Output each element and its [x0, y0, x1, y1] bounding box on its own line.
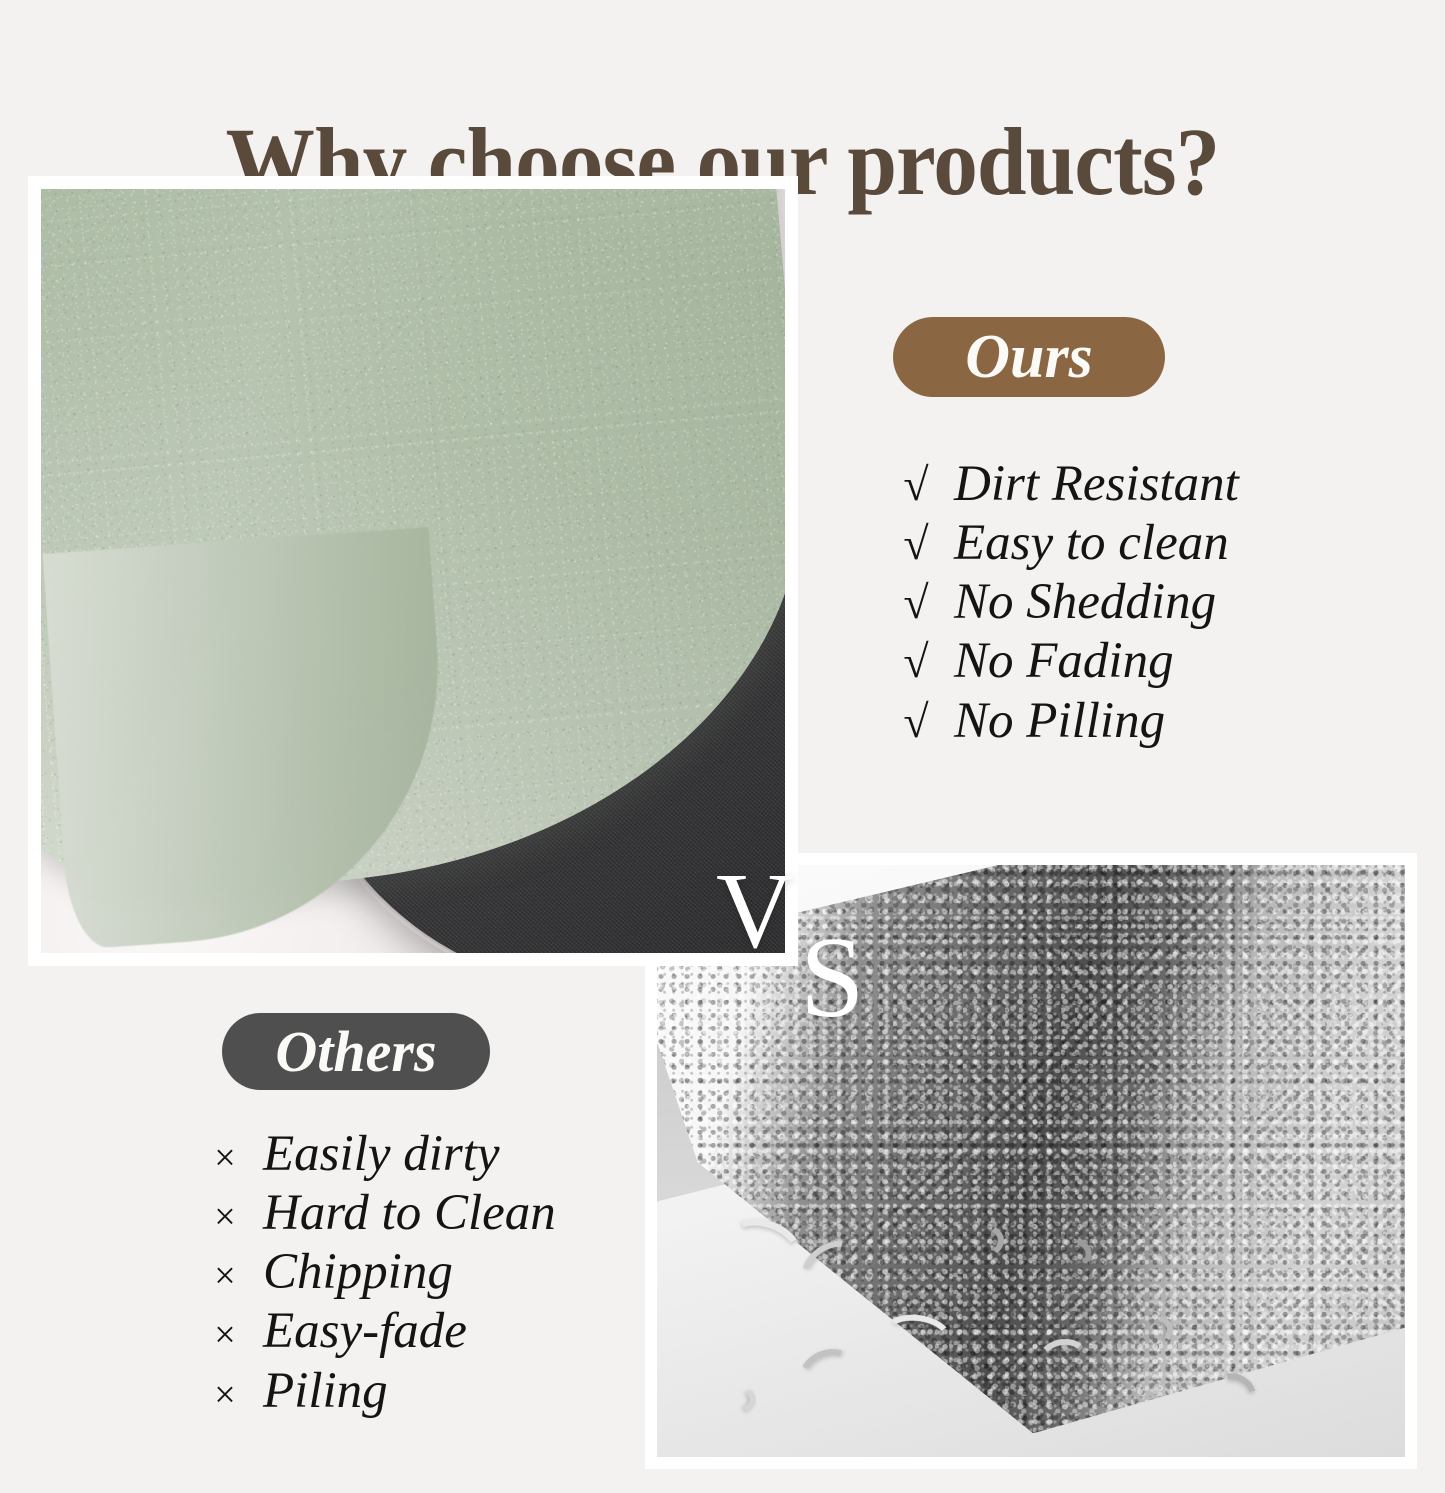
- check-icon: √: [896, 458, 936, 511]
- vs-letter-s: S: [800, 920, 865, 1036]
- list-item: √ Dirt Resistant: [896, 455, 1239, 514]
- list-item-label: No Pilling: [954, 692, 1165, 751]
- list-item-label: Easy to clean: [954, 514, 1229, 573]
- infographic-page: Why choose our products?: [0, 0, 1445, 1493]
- list-item: × Piling: [205, 1362, 556, 1421]
- ours-photo-inner: [41, 189, 785, 953]
- check-icon: √: [896, 576, 936, 629]
- ours-feature-list: √ Dirt Resistant √ Easy to clean √ No Sh…: [896, 455, 1239, 751]
- others-badge: Others: [222, 1013, 490, 1090]
- shed-fiber: [696, 1374, 759, 1420]
- list-item: √ No Shedding: [896, 573, 1239, 632]
- ours-badge: Ours: [893, 317, 1165, 397]
- cross-icon: ×: [205, 1195, 245, 1239]
- cross-icon: ×: [205, 1136, 245, 1180]
- list-item: √ No Pilling: [896, 692, 1239, 751]
- list-item: √ No Fading: [896, 632, 1239, 691]
- shed-fiber: [793, 1341, 864, 1405]
- check-icon: √: [896, 517, 936, 570]
- list-item: × Easy-fade: [205, 1302, 556, 1361]
- list-item-label: Chipping: [263, 1243, 453, 1302]
- cross-icon: ×: [205, 1254, 245, 1298]
- mat-scene: [41, 189, 785, 953]
- list-item: × Chipping: [205, 1243, 556, 1302]
- list-item-label: Easy-fade: [263, 1302, 467, 1361]
- cross-icon: ×: [205, 1313, 245, 1357]
- list-item-label: Dirt Resistant: [954, 455, 1239, 514]
- list-item-label: No Fading: [954, 632, 1174, 691]
- ours-product-photo: [28, 176, 798, 966]
- list-item-label: Piling: [263, 1362, 388, 1421]
- others-feature-list: × Easily dirty × Hard to Clean × Chippin…: [205, 1125, 556, 1421]
- list-item: √ Easy to clean: [896, 514, 1239, 573]
- vs-letter-v: V: [716, 858, 794, 966]
- check-icon: √: [896, 695, 936, 748]
- cross-icon: ×: [205, 1373, 245, 1417]
- list-item-label: Easily dirty: [263, 1125, 500, 1184]
- list-item: × Hard to Clean: [205, 1184, 556, 1243]
- list-item: × Easily dirty: [205, 1125, 556, 1184]
- check-icon: √: [896, 635, 936, 688]
- list-item-label: Hard to Clean: [263, 1184, 556, 1243]
- list-item-label: No Shedding: [954, 573, 1216, 632]
